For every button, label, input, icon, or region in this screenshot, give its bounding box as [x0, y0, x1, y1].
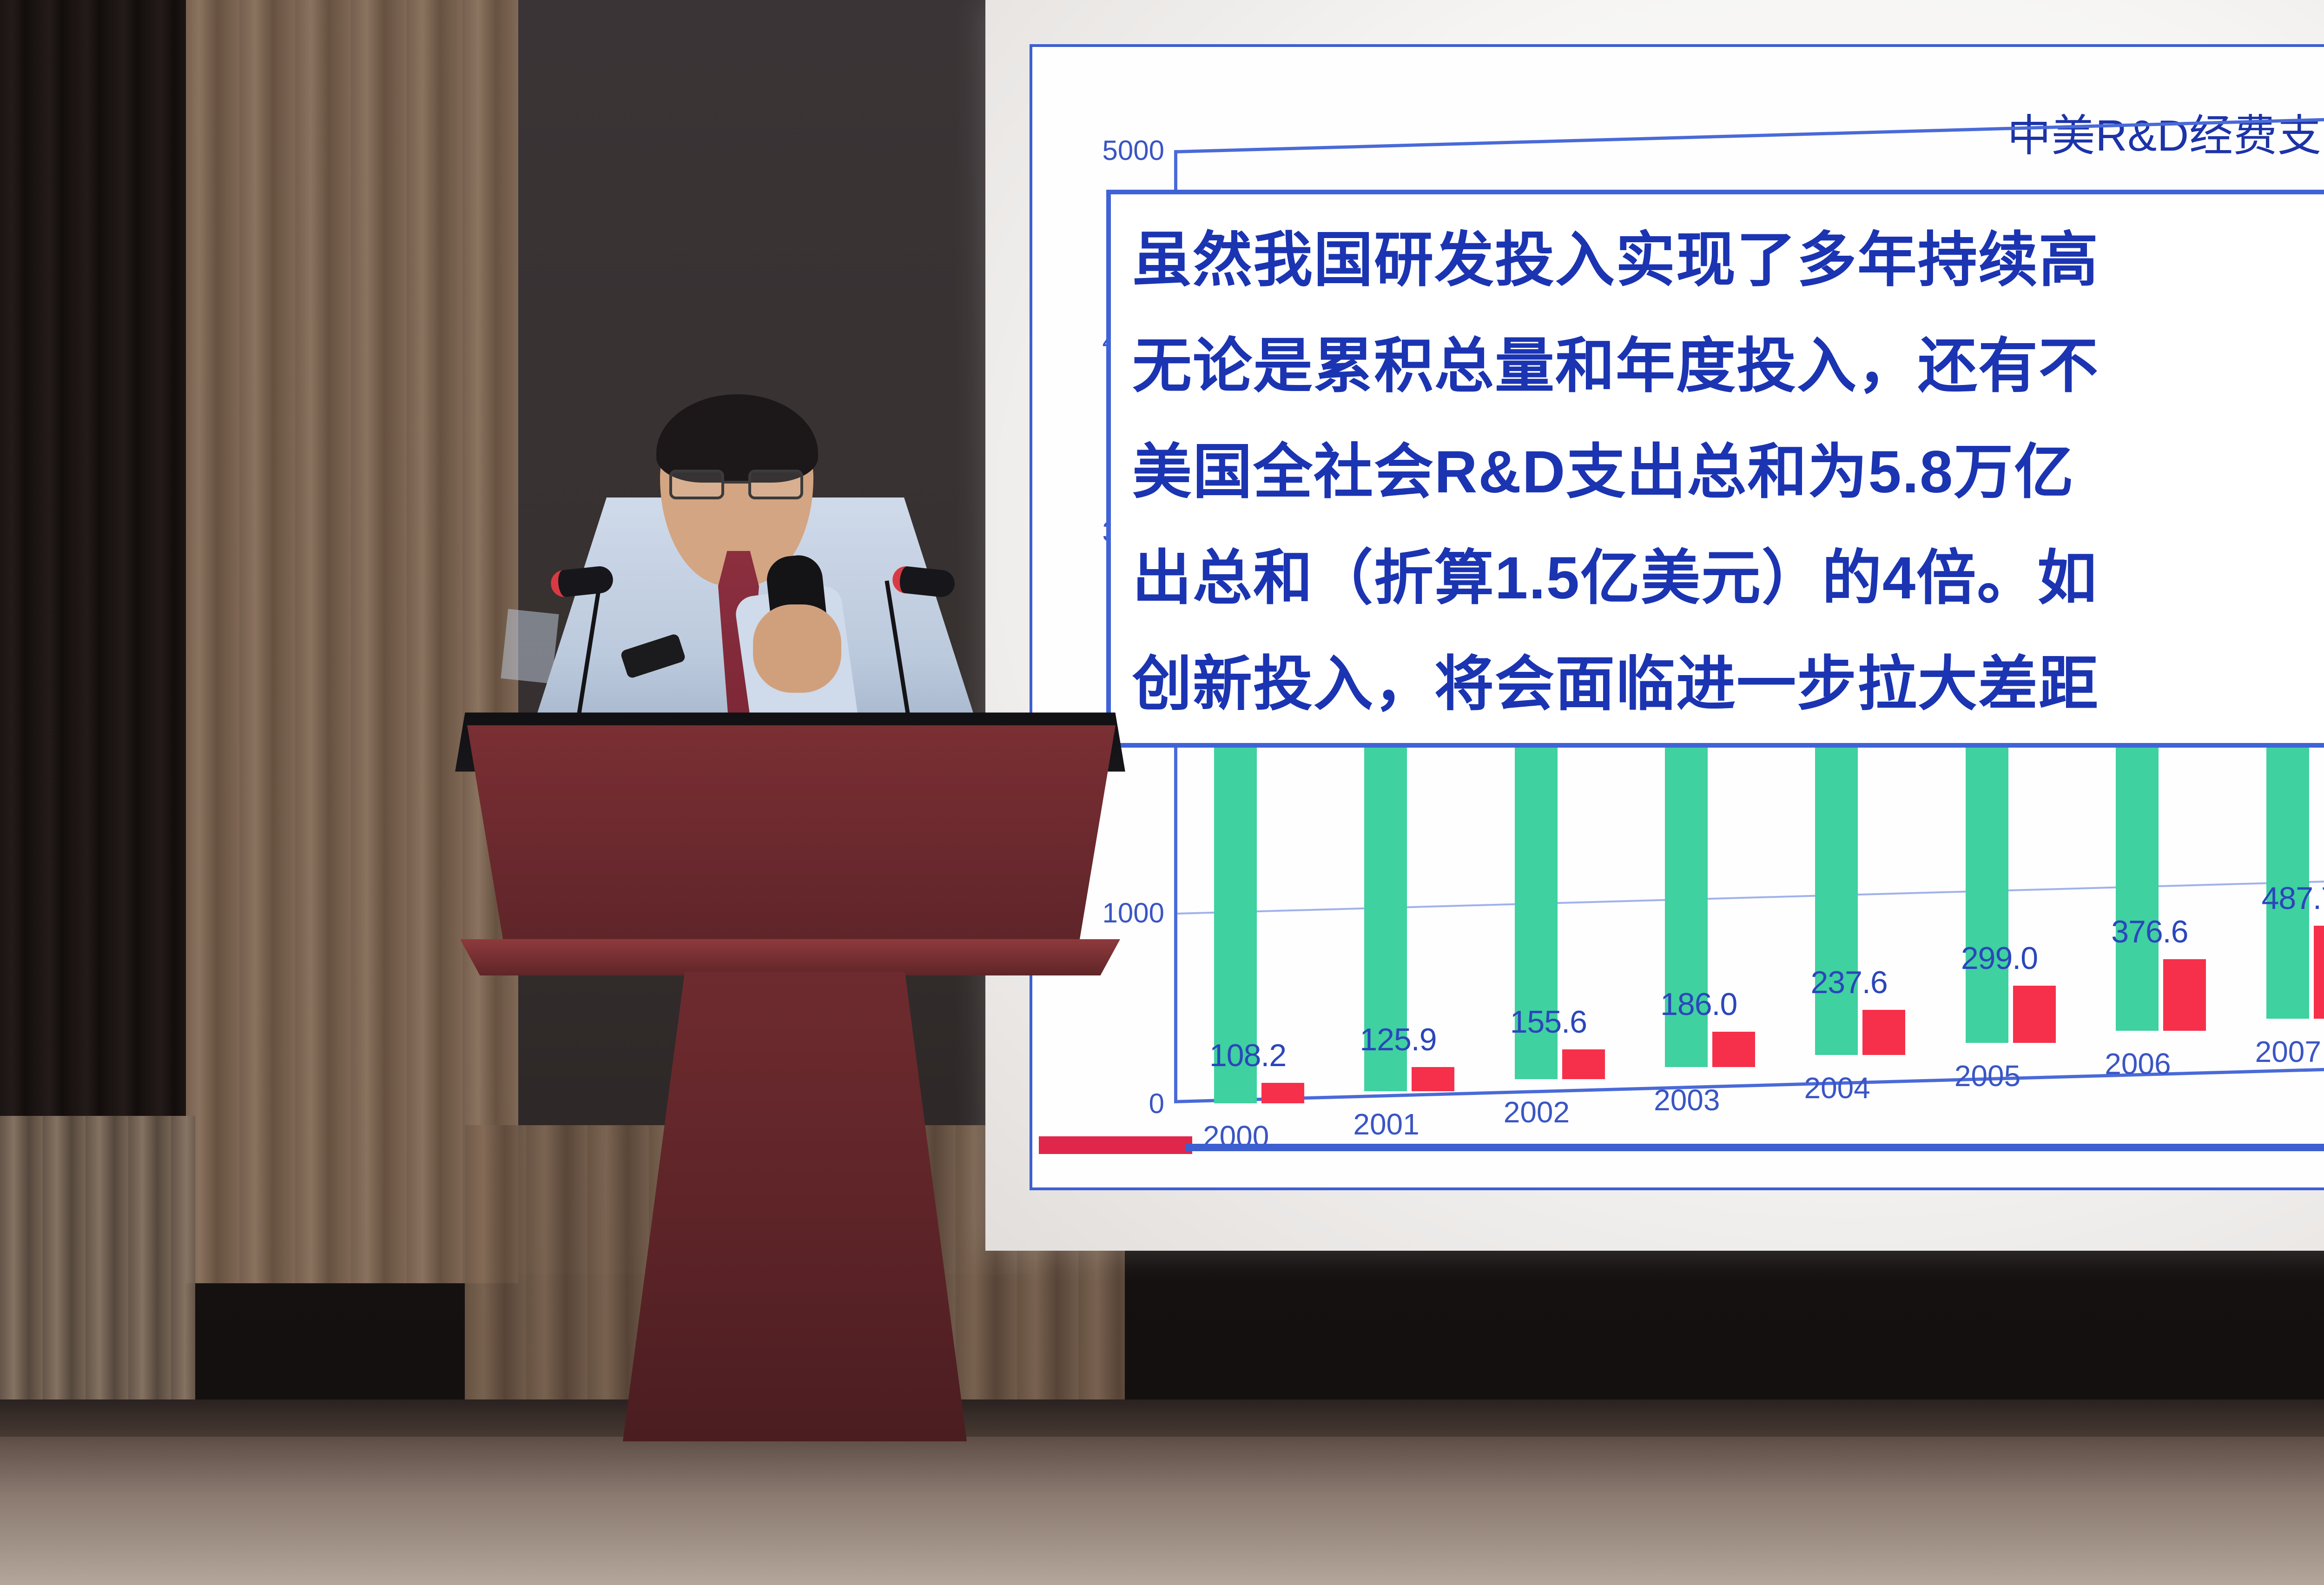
bar-data-label: 186.0	[1660, 986, 1737, 1022]
screenshot-stage: 中美R&D经费支出 010002000300040005000 108.2125…	[0, 0, 2324, 1585]
stage-edge	[0, 1399, 2324, 1441]
overlay-line-2: 无论是累积总量和年度投入，还有不	[1132, 313, 2324, 419]
x-axis-tick-label: 2002	[1504, 1095, 1570, 1129]
glasses-lens-right	[748, 470, 803, 499]
bar-china	[2013, 986, 2056, 1043]
slide-accent-red	[1039, 1136, 1192, 1154]
overlay-line-5: 创新投入，将会面临进一步拉大差距	[1132, 631, 2324, 737]
podium-body	[467, 725, 1116, 958]
bar-data-label: 376.6	[2111, 914, 2188, 950]
x-axis-tick-label: 2006	[2105, 1047, 2171, 1081]
podium-shelf	[460, 939, 1120, 975]
x-axis-tick-label: 2003	[1654, 1083, 1720, 1117]
wood-wall-panel-left	[184, 0, 518, 1283]
glasses-bridge	[724, 481, 748, 484]
bar-china	[1712, 1032, 1755, 1067]
bar-china	[2163, 959, 2206, 1031]
slide-accent-blue	[1186, 1144, 2324, 1151]
bar-data-label: 487.7	[2262, 880, 2324, 916]
x-axis-tick-label: 2007	[2255, 1035, 2321, 1069]
bar-china	[1862, 1010, 1905, 1055]
overlay-line-1: 虽然我国研发投入实现了多年持续高	[1132, 207, 2324, 313]
speaker-glasses	[669, 470, 804, 500]
slide-text-overlay: 虽然我国研发投入实现了多年持续高 无论是累积总量和年度投入，还有不 美国全社会R…	[1106, 190, 2324, 748]
x-axis-tick-label: 2005	[1954, 1059, 2020, 1093]
bar-data-label: 125.9	[1360, 1021, 1436, 1058]
speaker-hand	[753, 604, 841, 693]
bar-china	[1412, 1067, 1454, 1091]
speaker-badge	[501, 609, 559, 684]
bar-china	[1562, 1049, 1605, 1079]
y-axis-tick-label: 0	[1149, 1088, 1164, 1120]
stage-floor	[0, 1437, 2324, 1585]
overlay-line-4: 出总和（折算1.5亿美元）的4倍。如	[1132, 525, 2324, 631]
bar-china	[2314, 926, 2324, 1019]
bar-data-label: 299.0	[1961, 940, 2038, 976]
bar-data-label: 108.2	[1209, 1037, 1286, 1074]
y-axis-tick-label: 1000	[1103, 897, 1164, 929]
glasses-lens-left	[669, 470, 724, 499]
bar-data-label: 237.6	[1810, 964, 1887, 1001]
y-axis-tick-label: 5000	[1103, 134, 1164, 166]
x-axis-tick-label: 2001	[1353, 1107, 1419, 1141]
bar-data-label: 155.6	[1510, 1004, 1587, 1040]
x-axis-tick-label: 2004	[1804, 1071, 1870, 1105]
overlay-line-3: 美国全社会R&D支出总和为5.8万亿	[1132, 419, 2324, 525]
bar-china	[1261, 1083, 1304, 1103]
